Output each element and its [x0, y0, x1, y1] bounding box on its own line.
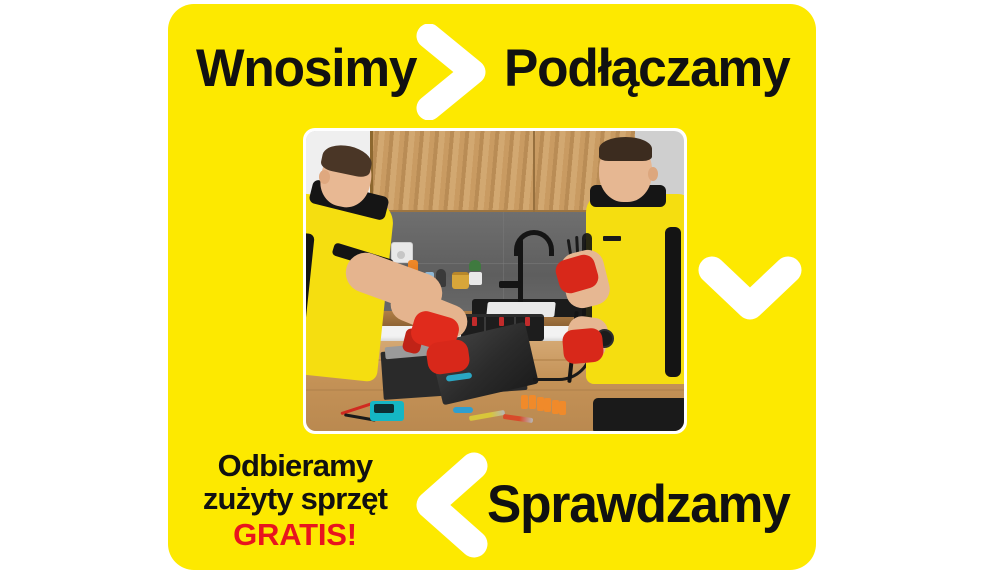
terminal-block	[544, 398, 551, 412]
infographic-canvas: Wnosimy Podłączamy	[0, 0, 1000, 581]
tray-tool	[499, 317, 504, 326]
plant-leaves	[469, 260, 481, 271]
terminal-block	[521, 395, 528, 409]
pickup-offer-block: Odbieramy zużyty sprzęt GRATIS!	[190, 450, 400, 552]
chevron-left-icon	[414, 450, 490, 560]
cabinet-seam	[533, 131, 535, 212]
tray-tool	[472, 317, 477, 326]
ear	[648, 167, 658, 181]
terminal-block	[559, 401, 566, 415]
chevron-right-icon	[415, 24, 491, 120]
pickup-line-2: zużyty sprzęt	[190, 483, 400, 516]
ear	[319, 170, 330, 184]
faucet-neck	[518, 239, 523, 305]
step-label-wnosimy: Wnosimy	[196, 42, 416, 95]
multimeter-screen	[374, 404, 394, 413]
pickup-free-badge: GRATIS!	[190, 519, 400, 552]
right-technician-trousers	[593, 398, 684, 431]
chevron-down-icon	[696, 252, 804, 330]
technicians-installation-photo	[306, 131, 684, 431]
jar	[452, 272, 469, 289]
shirt-stripe	[665, 227, 681, 377]
wire-connector	[453, 407, 473, 413]
tray-tool	[525, 317, 530, 326]
red-glove	[562, 327, 605, 364]
terminal-block	[552, 400, 559, 414]
terminal-block	[537, 397, 544, 411]
terminal-block	[529, 395, 536, 409]
shirt-logo	[603, 236, 621, 241]
hair	[599, 137, 652, 161]
pickup-line-1: Odbieramy	[190, 450, 400, 483]
step-label-podlaczamy: Podłączamy	[504, 42, 790, 95]
plant-pot	[469, 272, 482, 285]
step-label-sprawdzamy: Sprawdzamy	[487, 478, 790, 531]
faucet-handle	[499, 281, 521, 288]
photo-card	[303, 128, 687, 434]
